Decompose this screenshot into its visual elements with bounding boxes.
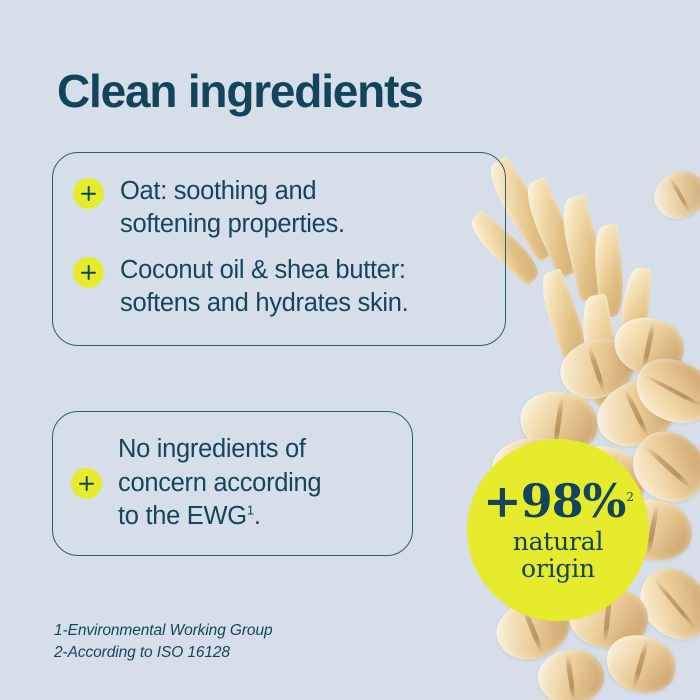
natural-origin-badge: +98%2 natural origin [467, 439, 649, 621]
natural-origin-percent-value: +98% [483, 474, 625, 528]
footnotes: 1-Environmental Working Group 2-Accordin… [54, 620, 273, 665]
natural-origin-percent: +98%2 [483, 478, 633, 524]
footnote-line-2: 2-According to ISO 16128 [54, 642, 273, 664]
list-item: No ingredients of concern according to t… [71, 428, 394, 539]
plus-icon [73, 257, 104, 288]
no-concern-card: No ingredients of concern according to t… [52, 411, 413, 556]
promo-canvas: Clean ingredients Oat: soothing and soft… [0, 0, 700, 700]
page-title: Clean ingredients [57, 66, 423, 117]
list-item-label: No ingredients of concern according to t… [118, 433, 321, 535]
list-item: Oat: soothing and softening properties. [73, 175, 485, 240]
ingredients-card: Oat: soothing and softening properties. … [52, 152, 506, 346]
list-item-text-tail: . [254, 502, 261, 530]
list-item-text: No ingredients of concern according to t… [118, 435, 321, 531]
footnote-line-1: 1-Environmental Working Group [54, 620, 273, 642]
list-item-label: Oat: soothing and softening properties. [120, 175, 345, 240]
list-item-label: Coconut oil & shea butter: softens and h… [120, 254, 408, 319]
footnote-marker-1: 1 [247, 503, 254, 518]
list-item: Coconut oil & shea butter: softens and h… [73, 254, 485, 319]
plus-icon [71, 468, 102, 499]
plus-icon [73, 178, 104, 209]
footnote-marker-2: 2 [626, 490, 633, 504]
natural-origin-subtitle: natural origin [513, 528, 604, 582]
